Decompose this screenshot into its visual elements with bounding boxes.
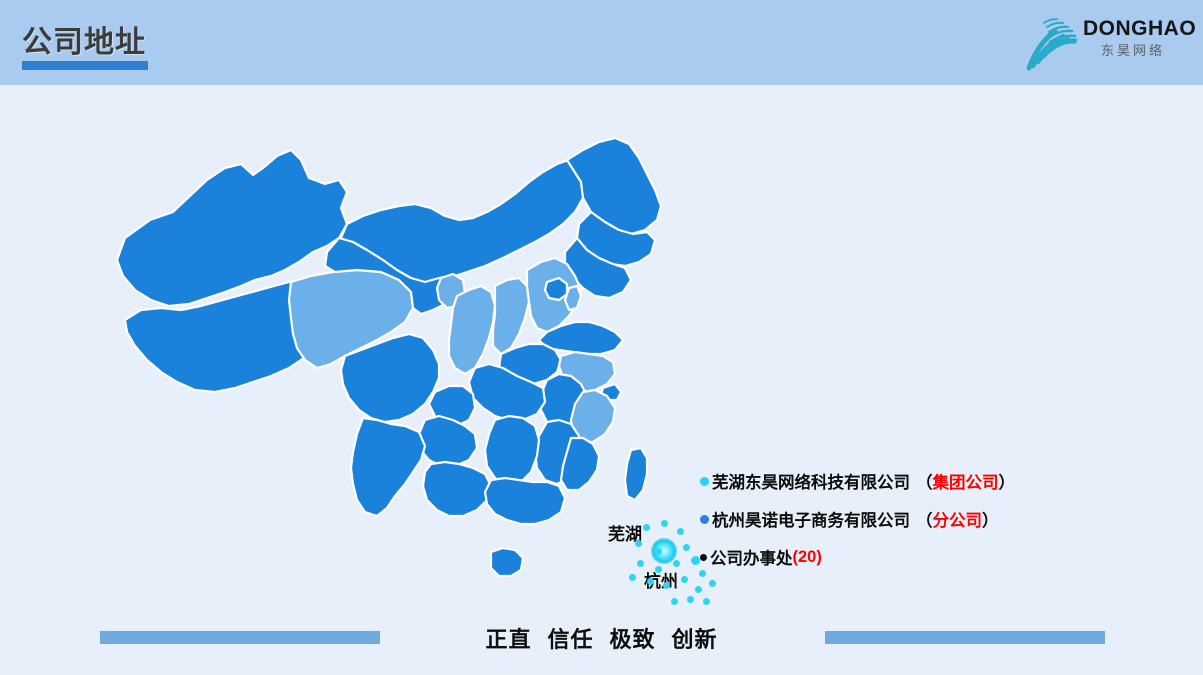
title-underline <box>22 61 148 70</box>
marker-office[interactable] <box>709 580 716 587</box>
logo-subname: 东昊网络 <box>1083 44 1183 57</box>
marker-office[interactable] <box>681 576 688 583</box>
legend-tag-open: （ <box>916 474 933 492</box>
slogan-word-4: 创新 <box>672 627 718 652</box>
marker-office[interactable] <box>703 598 710 605</box>
legend-item-offices[interactable]: 公司办事处 (20) <box>700 538 1120 576</box>
marker-office[interactable] <box>655 548 662 555</box>
province-hainan <box>491 548 523 576</box>
marker-office[interactable] <box>635 540 642 547</box>
legend-company-name: 公司办事处 <box>710 545 793 569</box>
province-hunan <box>485 416 539 484</box>
marker-office[interactable] <box>691 556 700 565</box>
marker-office[interactable] <box>695 586 702 593</box>
marker-office[interactable] <box>629 574 636 581</box>
marker-office[interactable] <box>637 560 644 567</box>
legend-tag-close: ） <box>982 512 999 530</box>
slogan-word-1: 正直 <box>485 627 531 652</box>
legend-bullet-icon <box>700 515 709 524</box>
province-beijing <box>545 278 567 300</box>
marker-office[interactable] <box>655 566 662 573</box>
legend-tag-text: 集团公司 <box>933 474 999 492</box>
marker-office[interactable] <box>647 578 654 585</box>
page-title: 公司地址 <box>22 17 146 61</box>
legend: 芜湖东昊网络科技有限公司 （集团公司） 杭州昊诺电子商务有限公司 （分公司） 公… <box>700 462 1120 576</box>
brand-logo: DONGHAO 东昊网络 <box>1021 8 1181 74</box>
china-map[interactable]: 芜湖 杭州 <box>95 120 715 610</box>
legend-company-tag: （集团公司） <box>916 469 1015 493</box>
legend-tag-text: (20) <box>793 548 822 566</box>
province-taiwan <box>625 448 647 500</box>
province-guangxi <box>423 462 491 516</box>
legend-bullet-icon <box>700 477 709 486</box>
legend-company-tag: (20) <box>793 548 822 567</box>
legend-item-branch-company[interactable]: 杭州昊诺电子商务有限公司 （分公司） <box>700 500 1120 538</box>
marker-office[interactable] <box>663 582 670 589</box>
legend-tag-open: （ <box>916 512 933 530</box>
logo-text-block: DONGHAO 东昊网络 <box>1083 18 1183 57</box>
marker-office[interactable] <box>683 544 690 551</box>
province-tianjin <box>565 286 581 310</box>
slide-company-address: 公司地址 DONGHAO <box>0 0 1203 675</box>
province-guizhou <box>419 416 477 466</box>
footer-slogan: 正直信任极致创新 <box>0 622 1203 654</box>
legend-company-name: 芜湖东昊网络科技有限公司 <box>712 469 910 493</box>
slogan-word-2: 信任 <box>547 627 593 652</box>
legend-item-group-company[interactable]: 芜湖东昊网络科技有限公司 （集团公司） <box>700 462 1120 500</box>
logo-name: DONGHAO <box>1083 18 1183 39</box>
province-shanxi <box>493 278 529 354</box>
marker-office[interactable] <box>673 560 680 567</box>
province-shaanxi <box>449 286 495 374</box>
marker-office[interactable] <box>661 520 668 527</box>
marker-office[interactable] <box>687 596 694 603</box>
province-yunnan <box>351 418 425 516</box>
legend-bullet-icon <box>700 554 707 561</box>
marker-office[interactable] <box>671 598 678 605</box>
legend-tag-text: 分公司 <box>933 512 983 530</box>
province-guangdong <box>485 478 565 524</box>
marker-office[interactable] <box>643 524 650 531</box>
legend-company-name: 杭州昊诺电子商务有限公司 <box>712 507 910 531</box>
slogan-word-3: 极致 <box>610 627 656 652</box>
donghao-wing-mark-icon <box>1021 10 1083 72</box>
legend-tag-close: ） <box>999 474 1016 492</box>
marker-office[interactable] <box>677 528 684 535</box>
legend-company-tag: （分公司） <box>916 507 999 531</box>
province-heilongjiang <box>567 138 661 234</box>
